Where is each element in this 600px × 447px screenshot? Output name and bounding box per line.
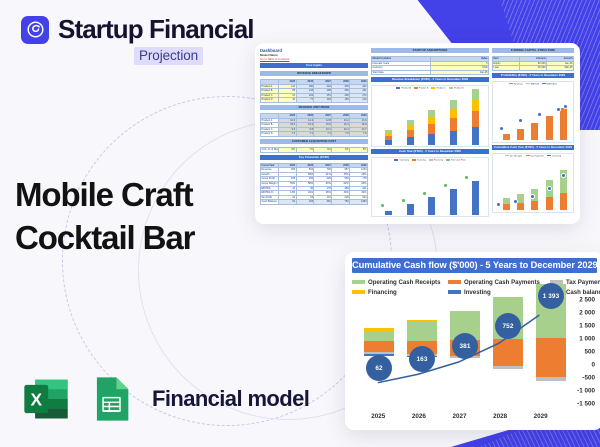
chart-plot-area: 62 163 381 752 1 393 2 500 2 000 1 500 1…: [352, 300, 597, 422]
table-row: Cash Balance621633817521393: [261, 200, 368, 205]
legend-label: Operating Cash Receipts: [368, 279, 440, 286]
legend-label: Investing: [464, 289, 491, 296]
chart-title: Cumulative Cash flow ($'000) - 5 Years t…: [352, 258, 597, 273]
mini-bar: [385, 130, 392, 145]
y-tick: -1 000: [563, 388, 595, 395]
legend-label: Tax Payment: [566, 279, 600, 286]
data-label-2026: 163: [409, 346, 435, 372]
mini-bar: [531, 123, 538, 140]
legend-swatch: [448, 280, 461, 283]
y-tick: 1 000: [563, 336, 595, 343]
revenue-breakdown-table: 20252026202720282029 Product A1121802423…: [260, 79, 368, 103]
y-tick: -500: [563, 375, 595, 382]
mini-bar: [472, 181, 479, 215]
mini-revenue-breakdown-chart[interactable]: Product A Product B Product C Product D: [371, 85, 489, 147]
dashboard-heading: Dashboard Model Name Go to Table of Cont…: [260, 48, 368, 61]
cac-table: CAC, % of Revenue8%7%6%6%5%: [260, 147, 368, 153]
band-cumulative-chart: Cumulative Cash flow ($'000) - 5 Years t…: [492, 145, 574, 150]
brand-row: Startup Financial: [21, 14, 254, 45]
y-tick: 500: [563, 349, 595, 356]
page-title: Mobile Craft Cocktail Bar: [15, 174, 194, 260]
spreadsheet-grid: Dashboard Model Name Go to Table of Cont…: [260, 48, 576, 221]
band-cashflow-chart: Cash flow ($'000) - 5 Years to December …: [371, 149, 489, 154]
mini-cumulative-chart[interactable]: Op. Receipts Op. Payments Investing: [492, 153, 574, 213]
mini-chart-plot: 20252026202720282029: [372, 162, 488, 218]
mini-bar: [517, 194, 524, 210]
data-label-2027: 381: [452, 333, 478, 359]
mini-bar: [503, 198, 510, 210]
mini-datapoint: [464, 175, 469, 180]
y-tick: 2 000: [563, 310, 595, 317]
format-badges-label: Financial model: [152, 386, 309, 412]
mini-bar: [531, 189, 538, 210]
legend-label: Financing: [368, 289, 397, 296]
mini-bar: [503, 134, 510, 140]
chart-y-axis: 2 500 2 000 1 500 1 000 500 0 -500 -1 00…: [563, 298, 595, 404]
unit-price-table: 20252026202720282029 Product A12.012.412…: [260, 113, 368, 137]
x-tick: 2029: [520, 413, 561, 420]
table-row: CAC, % of Revenue8%7%6%6%5%: [261, 147, 368, 152]
brand-subtitle-wrap: Projection: [21, 47, 254, 65]
mini-datapoint: [380, 203, 385, 208]
band-startup-assumptions: STARTUP ASSUMPTIONS: [371, 48, 489, 53]
mini-bar: [560, 108, 567, 140]
brand-subtitle: Projection: [134, 47, 203, 65]
mini-chart-plot: 20252026202720282029: [372, 90, 488, 148]
band-customer-acquisition: CUSTOMER ACQUISITION COST: [260, 139, 368, 144]
legend-swatch: [448, 290, 461, 293]
spiral-e-logo-icon: [21, 16, 49, 44]
x-tick: 2025: [358, 413, 399, 420]
headline-line-2: Cocktail Bar: [15, 217, 194, 260]
data-label-2029: 1 393: [538, 283, 564, 309]
y-tick: 2 500: [563, 297, 595, 304]
x-tick: 2027: [439, 413, 480, 420]
mini-datapoint: [443, 183, 448, 188]
mini-chart-bars: [499, 87, 571, 140]
mini-cash-flow-chart[interactable]: Operating Investing Financing Net Cash F…: [371, 157, 489, 217]
mini-bar: [407, 120, 414, 145]
sheet-col-middle: STARTUP ASSUMPTIONS Model ContainsValue …: [371, 48, 489, 221]
band-revenue-breakdown: REVENUE BREAKDOWN: [260, 71, 368, 76]
legend-item-operating-cash-payments[interactable]: Operating Cash Payments: [448, 277, 546, 287]
format-badges: X Financial model: [20, 373, 309, 425]
data-label-2028: 752: [495, 313, 521, 339]
y-tick: 1 500: [563, 323, 595, 330]
legend-label: Operating Cash Payments: [464, 279, 540, 286]
promo-banner: Startup Financial Projection Mobile Craf…: [0, 0, 600, 447]
mini-bar: [517, 129, 524, 140]
data-label-2025: 62: [366, 355, 392, 381]
mini-chart-bars: [378, 92, 486, 145]
mini-profitability-chart[interactable]: Revenue EBITDA EBITDA %: [492, 81, 574, 143]
band-core-inputs: Core Inputs: [260, 63, 368, 68]
mini-chart-bars: [378, 164, 486, 215]
band-revenue-chart: Revenue Breakdown ($'000) - 5 Years to D…: [371, 77, 489, 82]
brand-title: Startup Financial: [58, 14, 254, 45]
band-key-financials: Key Financials ($'000): [260, 155, 368, 160]
mini-bar: [472, 89, 479, 145]
x-tick: 2026: [399, 413, 440, 420]
mini-bar: [546, 116, 553, 140]
mini-bar: [428, 197, 435, 215]
legend-item-investing[interactable]: Investing: [448, 287, 546, 297]
band-funding-capital: FUNDING CAPITAL STRUCTURE: [492, 48, 574, 53]
band-revenue-unit-price: REVENUE UNIT PRICE: [260, 105, 368, 110]
legend-swatch: [352, 290, 365, 293]
google-sheets-icon: [85, 373, 137, 425]
legend-label: Cash balance: [566, 289, 600, 296]
key-financials-table: Fiscal Year20252026202720282029 Revenue3…: [260, 163, 368, 205]
legend-item-operating-cash-receipts[interactable]: Operating Cash Receipts: [352, 277, 444, 287]
table-row: Start DateJan-25: [372, 70, 489, 75]
mini-bar: [450, 100, 457, 145]
mini-chart-bars: [499, 159, 571, 210]
sheet-col-right: FUNDING CAPITAL STRUCTURE ItemAmountGrow…: [492, 48, 574, 221]
svg-text:X: X: [30, 390, 42, 410]
spreadsheet-preview-card[interactable]: Dashboard Model Name Go to Table of Cont…: [255, 43, 580, 224]
y-tick: 0: [563, 362, 595, 369]
funding-table: ItemAmountGrowth Equity80 000Jan-25 Loan…: [492, 56, 574, 71]
legend-item-financing[interactable]: Financing: [352, 287, 444, 297]
mini-bar: [385, 211, 392, 215]
x-tick: 2028: [480, 413, 521, 420]
chart-x-axis: 2025 2026 2027 2028 2029: [358, 413, 561, 420]
cumulative-cashflow-chart-card[interactable]: Cumulative Cash flow ($'000) - 5 Years t…: [345, 252, 600, 430]
legend-swatch: [352, 280, 365, 283]
mini-bar: [450, 189, 457, 215]
y-tick: -1 500: [563, 401, 595, 408]
table-row: Product D7.07.27.47.67.9: [261, 132, 368, 137]
table-row: Loan30 000Mar-25: [493, 66, 574, 71]
sheet-col-left: Dashboard Model Name Go to Table of Cont…: [260, 48, 368, 221]
band-profitability-chart: Profitability ($'000) - 5 Years to Decem…: [492, 73, 574, 78]
headline-line-1: Mobile Craft: [15, 174, 194, 217]
chart-plot: 62 163 381 752 1 393: [358, 300, 561, 404]
brand-block: Startup Financial Projection: [21, 14, 254, 65]
table-row: Product D4477118165219: [261, 98, 368, 103]
mini-datapoint: [401, 198, 406, 203]
mini-chart-plot: 20252026202720282029: [493, 85, 573, 143]
mini-datapoint: [422, 191, 427, 196]
microsoft-excel-icon: X: [20, 373, 72, 425]
startup-assumptions-table: Model ContainsValue Forecast Years5 Curr…: [371, 56, 489, 75]
mini-bar: [428, 110, 435, 145]
mini-bar: [407, 204, 414, 215]
spreadsheet-inner: Dashboard Model Name Go to Table of Cont…: [260, 48, 576, 221]
toc-link[interactable]: Go to Table of Contents: [260, 57, 368, 61]
mini-bar: [546, 180, 553, 210]
mini-chart-plot: 20252026202720282029: [493, 157, 573, 213]
